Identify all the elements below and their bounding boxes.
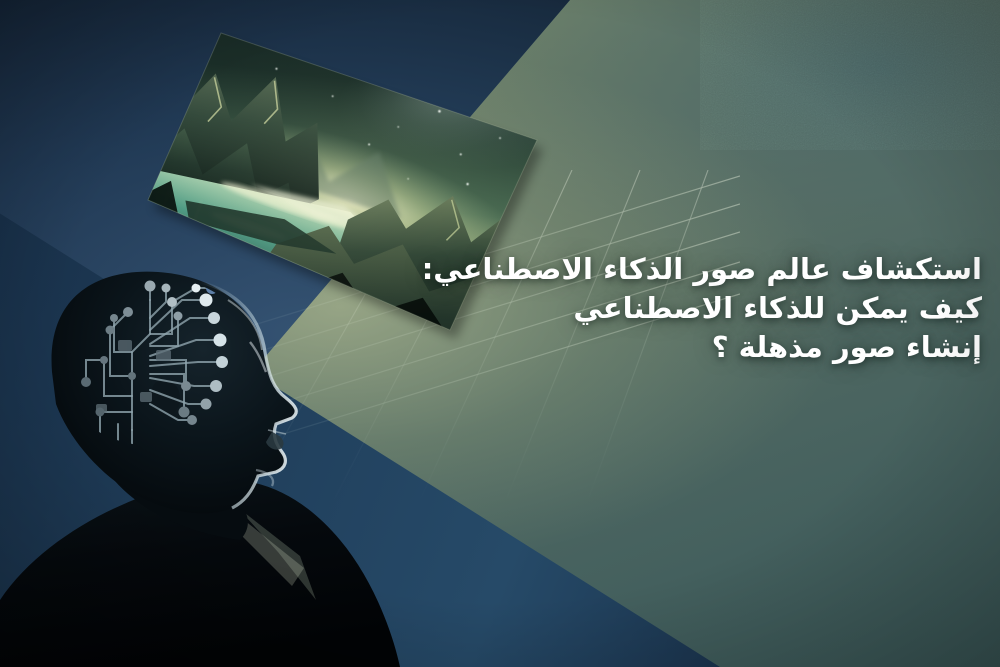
poster-canvas: استكشاف عالم صور الذكاء الاصطناعي: كيف ي… [0,0,1000,667]
headline: استكشاف عالم صور الذكاء الاصطناعي: كيف ي… [442,250,982,367]
headline-line-2: كيف يمكن للذكاء الاصطناعي [442,289,982,328]
headline-line-1: استكشاف عالم صور الذكاء الاصطناعي: [442,250,982,289]
headline-line-3: إنشاء صور مذهلة ؟ [442,328,982,367]
